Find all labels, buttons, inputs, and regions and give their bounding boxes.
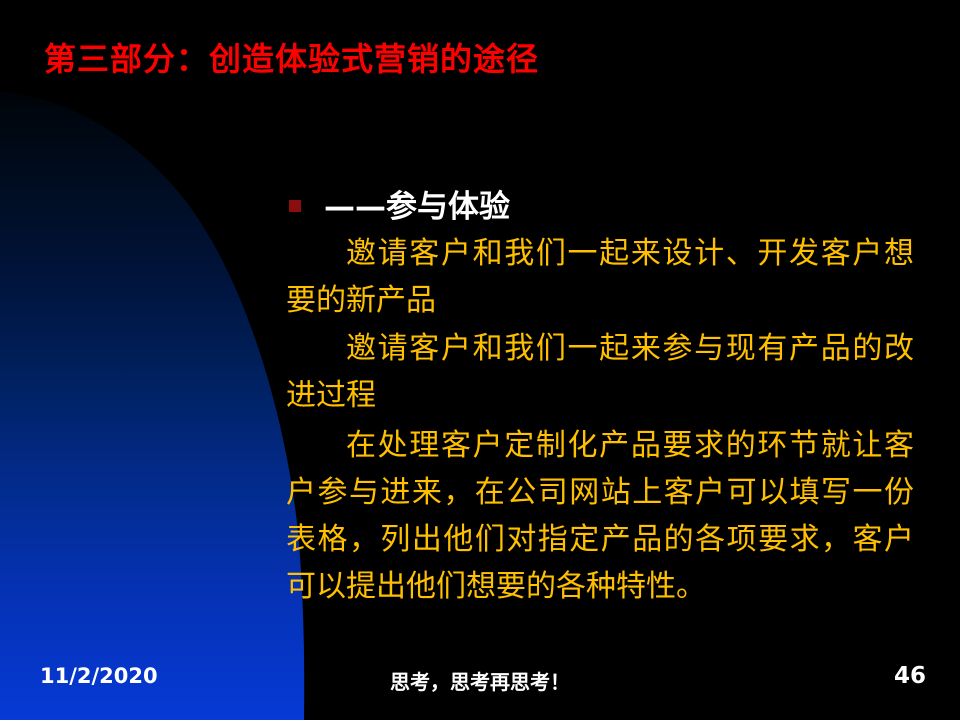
- square-bullet-icon: [289, 200, 301, 212]
- footer-page-number: 46: [894, 663, 926, 689]
- body-paragraph-2: 邀请客户和我们一起来参与现有产品的改进过程: [286, 325, 914, 419]
- footer-center-text: 思考，思考再思考！: [0, 666, 960, 695]
- body-paragraph-3: 在处理客户定制化产品要求的环节就让客户参与进来，在公司网站上客户可以填写一份表格…: [286, 422, 914, 610]
- slide-body: ——参与体验 邀请客户和我们一起来设计、开发客户想要的新产品 邀请客户和我们一起…: [286, 186, 914, 611]
- bullet-item-label: ——参与体验: [324, 189, 510, 225]
- body-paragraph-1: 邀请客户和我们一起来设计、开发客户想要的新产品: [286, 230, 914, 324]
- bullet-item-participation: ——参与体验: [286, 186, 914, 228]
- presentation-slide: 第三部分：创造体验式营销的途径 ——参与体验 邀请客户和我们一起来设计、开发客户…: [0, 0, 960, 720]
- slide-title: 第三部分：创造体验式营销的途径: [44, 36, 924, 82]
